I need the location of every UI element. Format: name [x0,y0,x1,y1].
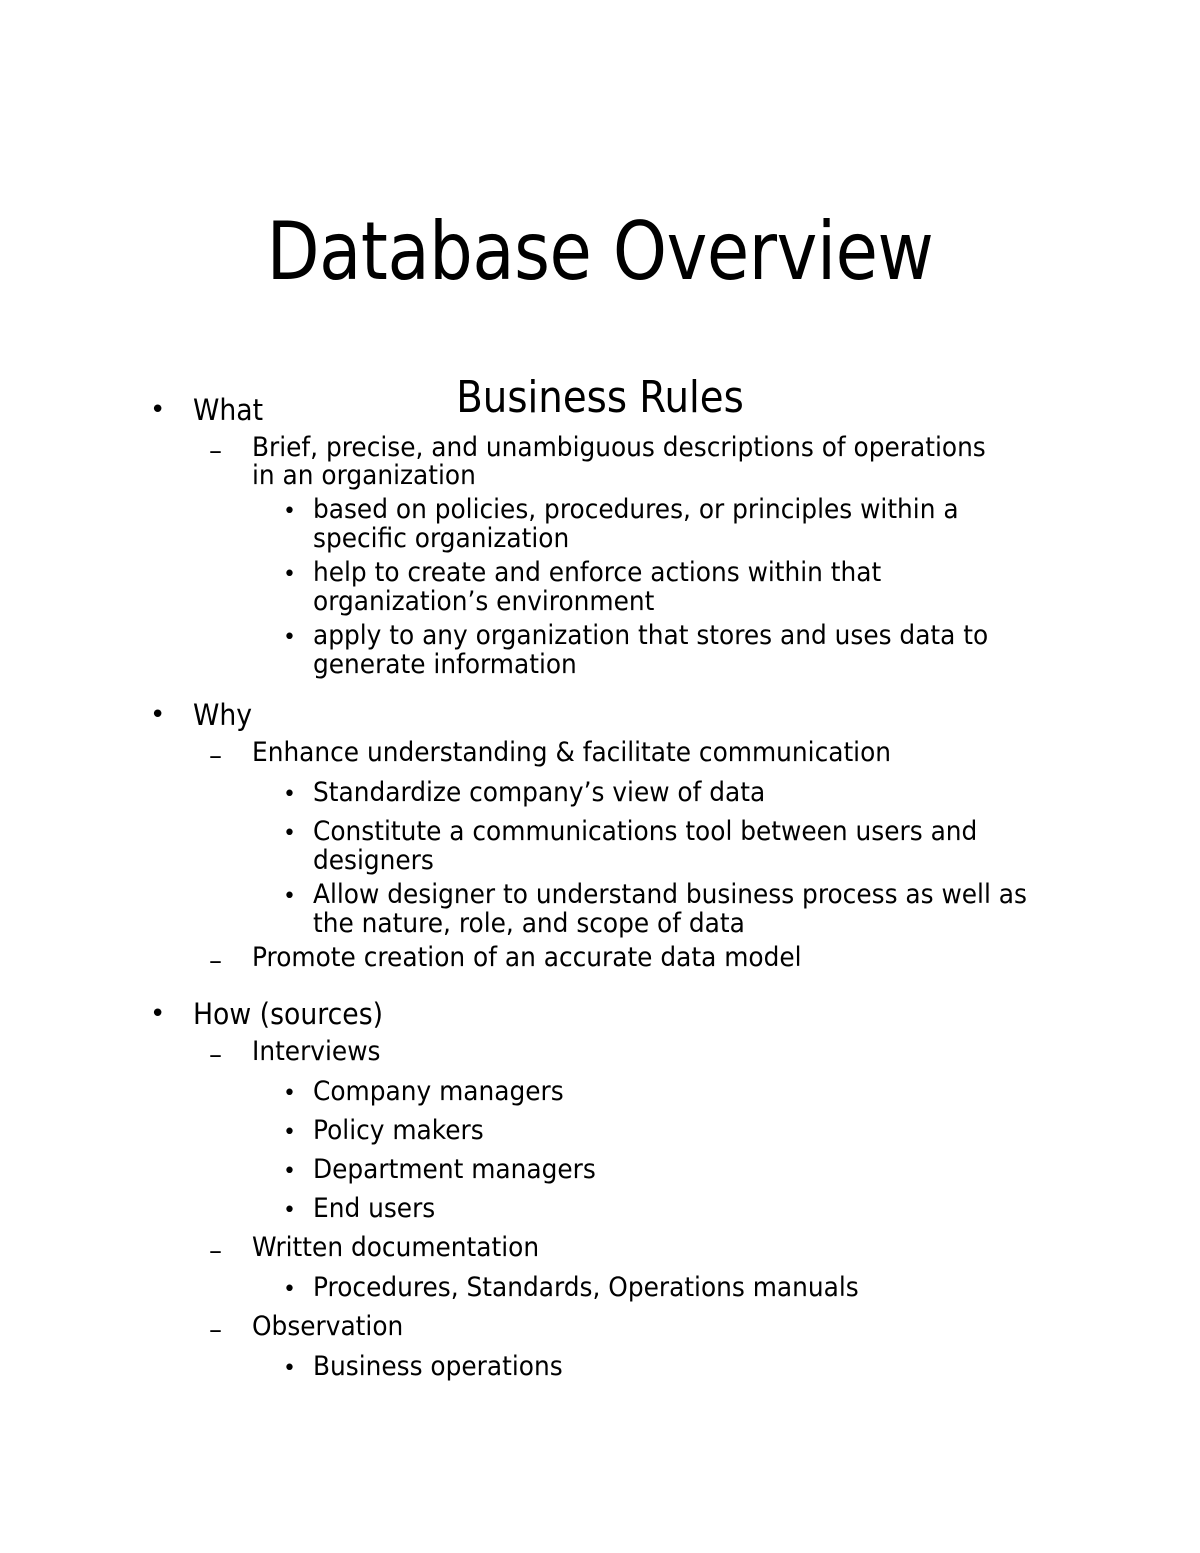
outline-item-text: Why [193,697,1003,733]
dash-marker-icon: – [209,1038,252,1072]
outline-item-text: Company managers [313,1077,1049,1106]
outline-item-text: Standardize company’s view of data [313,778,1049,807]
outline-item-row: •help to create and enforce actions with… [0,558,1200,616]
bullet-marker-icon: • [283,778,313,812]
bullet-marker-icon: • [150,697,193,733]
outline-item-row: •apply to any organization that stores a… [0,621,1200,679]
outline-list: •What–Brief, precise, and unambiguous de… [0,392,1200,1386]
outline-item-row: •based on policies, procedures, or princ… [0,495,1200,553]
bullet-marker-icon: • [150,392,193,428]
outline-item-text: How (sources) [193,996,1003,1032]
outline-item: •Standardize company’s view of data [0,778,1200,812]
outline-item-row: •End users [0,1194,1200,1228]
outline-item: •Business operations [0,1352,1200,1386]
dash-marker-icon: – [209,434,252,468]
dash-marker-icon: – [209,1234,252,1268]
bullet-marker-icon: • [283,558,313,592]
outline-item-row: –Observation [0,1313,1200,1347]
outline-item-text: help to create and enforce actions withi… [313,558,1049,616]
outline-item-row: –Promote creation of an accurate data mo… [0,944,1200,978]
outline-item-row: •Why [0,697,1200,733]
outline-item: •Constitute a communications tool betwee… [0,817,1200,875]
outline-item-row: •What [0,392,1200,428]
bullet-marker-icon: • [150,996,193,1032]
outline-item-row: •How (sources) [0,996,1200,1032]
outline-item-text: Enhance understanding & facilitate commu… [252,739,988,767]
bullet-marker-icon: • [283,1077,313,1111]
outline-item-text: What [193,392,1003,428]
outline-item: •Department managers [0,1155,1200,1189]
outline-item-text: based on policies, procedures, or princi… [313,495,1049,553]
outline-item-text: Observation [252,1313,988,1341]
document-page: Database Overview Business Rules •What–B… [0,0,1200,1553]
outline-item-row: –Written documentation [0,1234,1200,1268]
bullet-marker-icon: • [283,621,313,655]
page-title: Database Overview [84,206,1116,298]
outline-item: •Policy makers [0,1116,1200,1150]
outline-item-text: Department managers [313,1155,1049,1184]
outline-item-text: Brief, precise, and unambiguous descript… [252,434,988,490]
outline-item-text: Written documentation [252,1234,988,1262]
outline-item: •based on policies, procedures, or princ… [0,495,1200,553]
bullet-marker-icon: • [283,1116,313,1150]
outline-item: •How (sources) [0,996,1200,1032]
outline-item: •Company managers [0,1077,1200,1111]
bullet-marker-icon: • [283,1155,313,1189]
outline-item-row: •Department managers [0,1155,1200,1189]
outline-item: –Interviews [0,1038,1200,1072]
outline-item-text: apply to any organization that stores an… [313,621,1049,679]
bullet-marker-icon: • [283,1273,313,1307]
outline-item-text: Promote creation of an accurate data mod… [252,944,988,972]
outline-item: •apply to any organization that stores a… [0,621,1200,679]
outline-item-text: Procedures, Standards, Operations manual… [313,1273,1049,1302]
outline-item-text: End users [313,1194,1049,1223]
outline-item: •help to create and enforce actions with… [0,558,1200,616]
dash-marker-icon: – [209,1313,252,1347]
outline-item-text: Constitute a communications tool between… [313,817,1049,875]
outline-item-text: Interviews [252,1038,988,1066]
outline-item-row: •Company managers [0,1077,1200,1111]
outline-item-row: –Interviews [0,1038,1200,1072]
outline-item-text: Business operations [313,1352,1049,1381]
outline-item-row: –Enhance understanding & facilitate comm… [0,739,1200,773]
outline-item: –Observation [0,1313,1200,1347]
outline-item: •Procedures, Standards, Operations manua… [0,1273,1200,1307]
bullet-marker-icon: • [283,1352,313,1386]
bullet-marker-icon: • [283,817,313,851]
outline-item-text: Policy makers [313,1116,1049,1145]
outline-item: •End users [0,1194,1200,1228]
outline-item-row: •Policy makers [0,1116,1200,1150]
outline-item-row: –Brief, precise, and unambiguous descrip… [0,434,1200,490]
outline-item: •What [0,392,1200,428]
bullet-marker-icon: • [283,495,313,529]
outline-item: –Enhance understanding & facilitate comm… [0,739,1200,773]
outline-item: –Written documentation [0,1234,1200,1268]
outline-item: •Allow designer to understand business p… [0,880,1200,938]
outline-item: –Brief, precise, and unambiguous descrip… [0,434,1200,490]
bullet-marker-icon: • [283,1194,313,1228]
outline-item-row: •Constitute a communications tool betwee… [0,817,1200,875]
outline-item-row: •Procedures, Standards, Operations manua… [0,1273,1200,1307]
dash-marker-icon: – [209,944,252,978]
outline-item: –Promote creation of an accurate data mo… [0,944,1200,978]
outline-item-text: Allow designer to understand business pr… [313,880,1049,938]
outline-item-row: •Standardize company’s view of data [0,778,1200,812]
outline-item-row: •Business operations [0,1352,1200,1386]
outline-item-row: •Allow designer to understand business p… [0,880,1200,938]
dash-marker-icon: – [209,739,252,773]
bullet-marker-icon: • [283,880,313,914]
outline-item: •Why [0,697,1200,733]
